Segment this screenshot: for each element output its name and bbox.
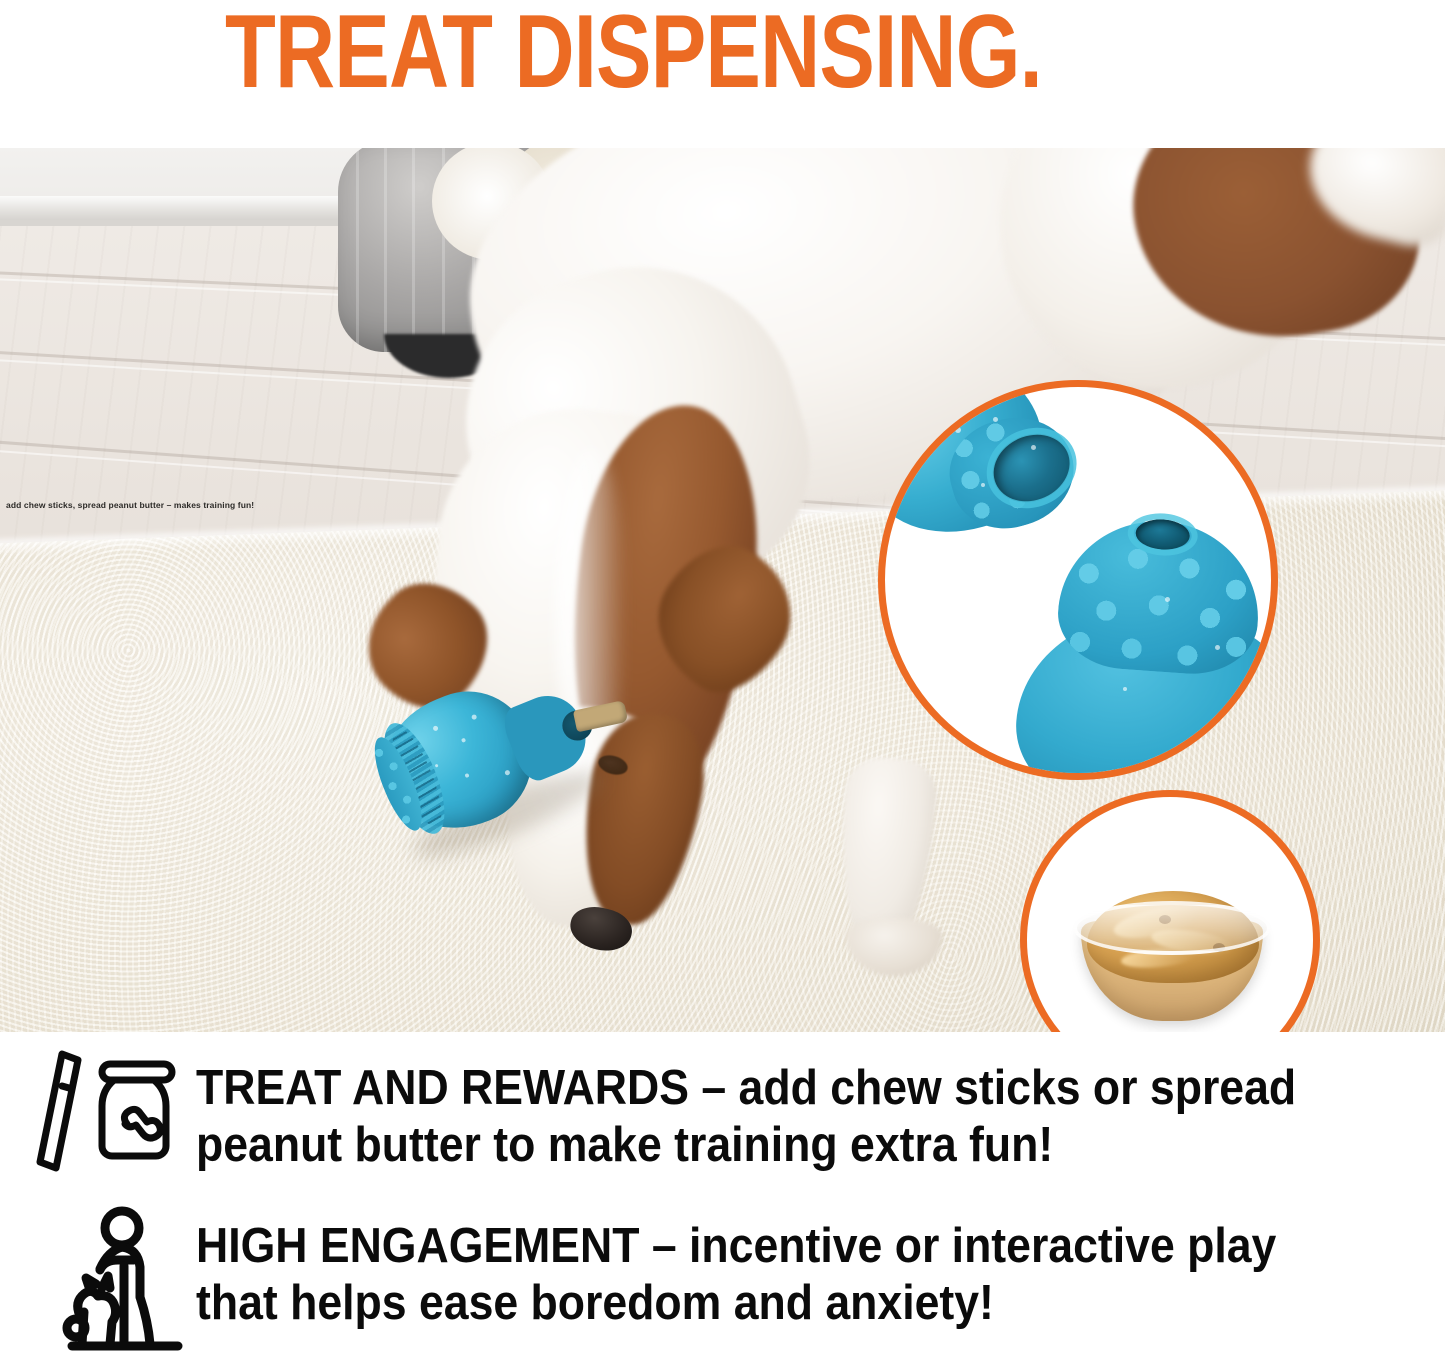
feature-list: TREAT AND REWARDS – add chew sticks or s… [0, 1032, 1445, 1354]
inset-toy-b [1025, 505, 1278, 780]
chew-stick-and-treat-jar-icon [32, 1050, 184, 1182]
feature-text-high-engagement: HIGH ENGAGEMENT – incentive or interacti… [196, 1218, 1317, 1332]
photo-micro-caption: add chew sticks, spread peanut butter – … [6, 500, 254, 510]
inset-toy-closeup [878, 380, 1278, 780]
header-band: TREAT DISPENSING. [0, 0, 1445, 148]
feature-lead-2: HIGH ENGAGEMENT [196, 1219, 639, 1273]
infographic-page: TREAT DISPENSING. [0, 0, 1445, 1354]
person-walking-dog-icon [46, 1204, 186, 1352]
bowl-glass-rim [1073, 901, 1271, 955]
dog-paw [846, 918, 942, 976]
feature-row-treat-and-rewards: TREAT AND REWARDS – add chew sticks or s… [0, 1040, 1445, 1198]
hero-photo: add chew sticks, spread peanut butter – … [0, 148, 1445, 1032]
feature-row-high-engagement: HIGH ENGAGEMENT – incentive or interacti… [0, 1202, 1445, 1354]
page-title: TREAT DISPENSING. [225, 0, 1042, 108]
peanut-butter-bowl [1073, 875, 1271, 1025]
feature-text-treat-and-rewards: TREAT AND REWARDS – add chew sticks or s… [196, 1060, 1317, 1174]
feature-lead-1: TREAT AND REWARDS [196, 1061, 689, 1115]
